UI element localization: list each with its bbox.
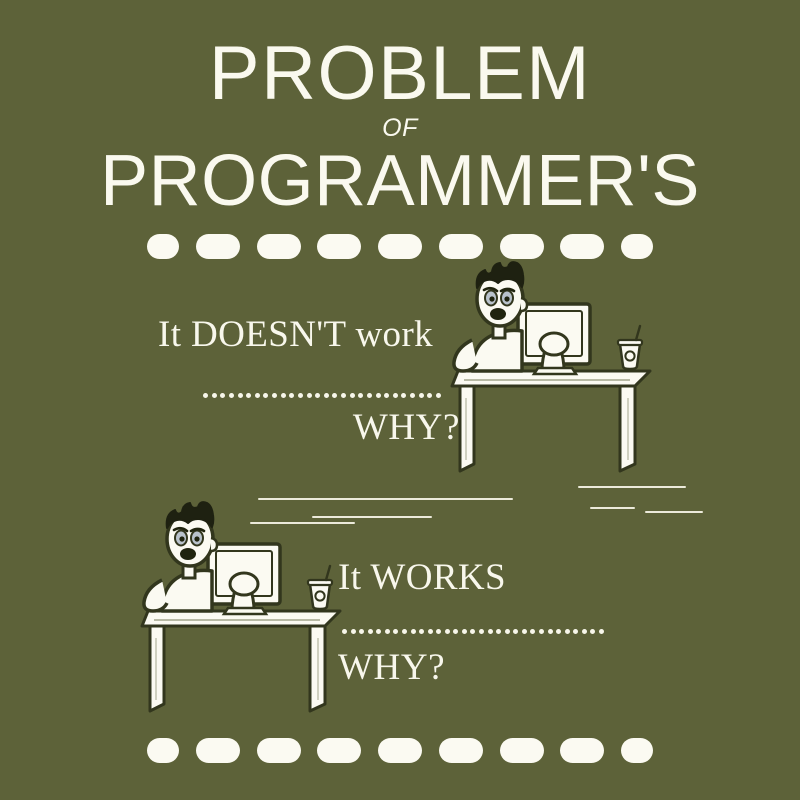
desk-group	[142, 611, 340, 711]
panel-1-dot-leader	[203, 392, 441, 398]
leader-dot	[556, 629, 561, 634]
drink-cup-group	[618, 326, 642, 369]
leader-dot	[513, 629, 518, 634]
person-group	[454, 262, 527, 371]
leader-dot	[530, 629, 535, 634]
leader-dot	[590, 629, 595, 634]
divider-dash	[147, 738, 179, 763]
divider-dash	[147, 234, 179, 259]
leader-dot	[220, 393, 225, 398]
confused-programmer-at-desk-bottom	[140, 508, 360, 713]
panel-2-question-label: It WORKS	[338, 556, 506, 599]
divider-dash	[621, 234, 653, 259]
divider-dash	[439, 738, 483, 763]
divider-dash	[196, 738, 240, 763]
sketch-line	[258, 498, 513, 500]
leader-dot	[376, 629, 381, 634]
leader-dot	[496, 629, 501, 634]
panel-2-reaction-label: WHY?	[338, 646, 445, 689]
divider-dash	[500, 234, 544, 259]
sketch-line	[645, 511, 703, 513]
leader-dot	[298, 393, 303, 398]
programmer-problem-poster: PROBLEM OF PROGRAMMER'S It DOESN'T work …	[0, 0, 800, 800]
dashed-divider-bottom	[147, 737, 653, 763]
panel-2-dot-leader	[342, 628, 604, 634]
leader-dot	[522, 629, 527, 634]
leader-dot	[384, 393, 389, 398]
leader-dot	[453, 629, 458, 634]
leader-dot	[419, 629, 424, 634]
leader-dot	[229, 393, 234, 398]
leader-dot	[350, 393, 355, 398]
leader-dot	[393, 629, 398, 634]
monitor-group	[208, 544, 280, 614]
leader-dot	[307, 393, 312, 398]
title-line-1: PROBLEM	[0, 38, 800, 110]
leader-dot	[203, 393, 208, 398]
divider-dash	[257, 234, 301, 259]
confused-programmer-at-desk-top	[450, 268, 670, 473]
divider-dash	[500, 738, 544, 763]
title-line-2: PROGRAMMER'S	[0, 145, 800, 218]
drink-cup-group	[308, 566, 332, 609]
sketch-line	[578, 486, 686, 488]
leader-dot	[427, 393, 432, 398]
leader-dot	[565, 629, 570, 634]
monitor-group	[518, 304, 590, 374]
page-title: PROBLEM OF PROGRAMMER'S	[0, 38, 800, 219]
leader-dot	[436, 393, 441, 398]
leader-dot	[358, 393, 363, 398]
leader-dot	[246, 393, 251, 398]
dashed-divider-top	[147, 233, 653, 259]
divider-dash	[257, 738, 301, 763]
leader-dot	[238, 393, 243, 398]
leader-dot	[324, 393, 329, 398]
leader-dot	[332, 393, 337, 398]
leader-dot	[436, 629, 441, 634]
divider-dash	[378, 234, 422, 259]
leader-dot	[342, 629, 347, 634]
leader-dot	[263, 393, 268, 398]
leader-dot	[367, 393, 372, 398]
leader-dot	[505, 629, 510, 634]
sketch-line	[590, 507, 635, 509]
title-connector: OF	[0, 114, 800, 143]
leader-dot	[368, 629, 373, 634]
leader-dot	[341, 393, 346, 398]
divider-dash	[560, 738, 604, 763]
divider-dash	[317, 234, 361, 259]
leader-dot	[582, 629, 587, 634]
leader-dot	[393, 393, 398, 398]
divider-dash	[560, 234, 604, 259]
leader-dot	[289, 393, 294, 398]
divider-dash	[317, 738, 361, 763]
person-group	[144, 502, 217, 611]
panel-1-question-label: It DOESN'T work	[158, 313, 433, 356]
leader-dot	[359, 629, 364, 634]
leader-dot	[255, 393, 260, 398]
leader-dot	[419, 393, 424, 398]
leader-dot	[445, 629, 450, 634]
leader-dot	[488, 629, 493, 634]
leader-dot	[272, 393, 277, 398]
leader-dot	[281, 393, 286, 398]
leader-dot	[479, 629, 484, 634]
leader-dot	[212, 393, 217, 398]
leader-dot	[573, 629, 578, 634]
divider-dash	[378, 738, 422, 763]
divider-dash	[621, 738, 653, 763]
leader-dot	[548, 629, 553, 634]
leader-dot	[470, 629, 475, 634]
leader-dot	[385, 629, 390, 634]
leader-dot	[376, 393, 381, 398]
leader-dot	[410, 393, 415, 398]
divider-dash	[439, 234, 483, 259]
leader-dot	[599, 629, 604, 634]
leader-dot	[401, 393, 406, 398]
leader-dot	[351, 629, 356, 634]
leader-dot	[428, 629, 433, 634]
panel-1-reaction-label: WHY?	[158, 406, 460, 449]
leader-dot	[539, 629, 544, 634]
desk-group	[452, 371, 650, 471]
leader-dot	[402, 629, 407, 634]
leader-dot	[462, 629, 467, 634]
leader-dot	[411, 629, 416, 634]
divider-dash	[196, 234, 240, 259]
leader-dot	[315, 393, 320, 398]
